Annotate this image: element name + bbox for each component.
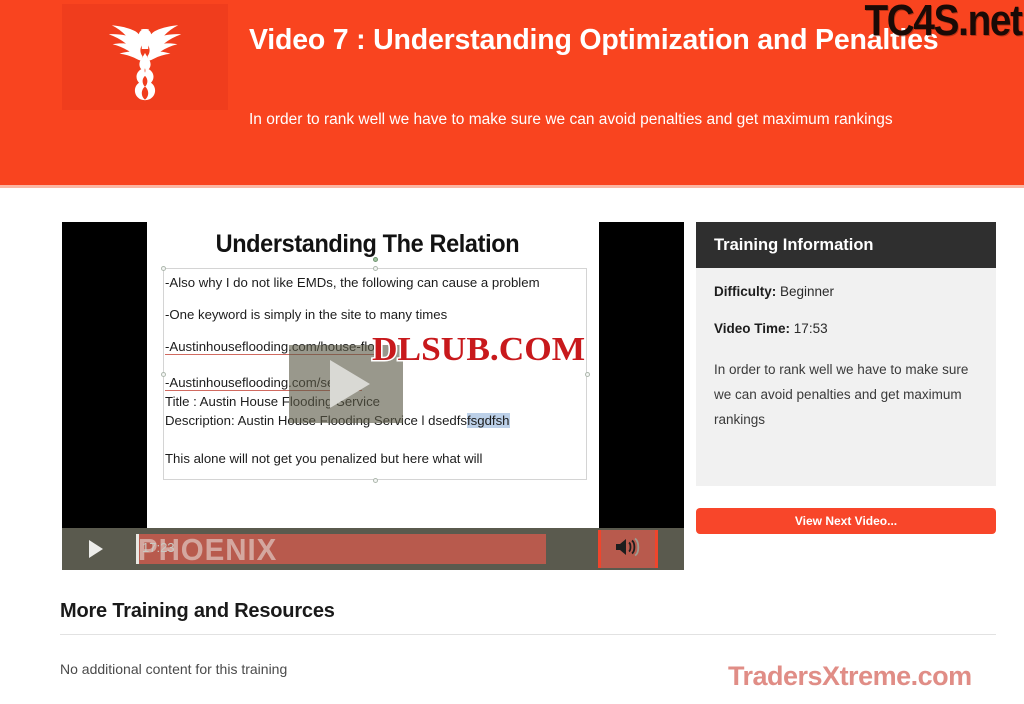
training-description: In order to rank well we have to make su…	[714, 358, 978, 433]
difficulty-row: Difficulty: Beginner	[714, 284, 978, 299]
difficulty-label: Difficulty:	[714, 284, 776, 299]
slide-line-1: -Also why I do not like EMDs, the follow…	[165, 276, 589, 289]
more-resources-body: No additional content for this training	[60, 661, 287, 677]
slide-meta-desc-highlight: fsgdfsh	[467, 413, 510, 428]
phoenix-flame-logo-icon	[85, 9, 205, 105]
panel-title: Training Information	[714, 236, 874, 255]
page-subtitle: In order to rank well we have to make su…	[249, 108, 959, 132]
slide-closing-line: This alone will not get you penalized bu…	[165, 452, 589, 465]
volume-button[interactable]	[598, 530, 658, 568]
video-time-label: Video Time:	[714, 321, 790, 336]
watermark-tc4s: TC4S.net	[865, 0, 1022, 46]
slide-title: Understanding The Relation	[170, 230, 565, 259]
more-resources-divider	[60, 634, 996, 635]
video-control-bar[interactable]: PHOENIX 17:23	[62, 528, 684, 570]
video-time-value: 17:53	[794, 321, 828, 336]
current-time-label: 17:23	[142, 540, 175, 555]
play-button[interactable]	[62, 528, 130, 570]
slide-rotate-handle	[373, 257, 378, 262]
slide-handle-tl	[161, 266, 166, 271]
site-logo[interactable]	[62, 4, 228, 110]
difficulty-value: Beginner	[780, 284, 834, 299]
more-resources-heading: More Training and Resources	[60, 600, 335, 623]
page-root: Video 7 : Understanding Optimization and…	[0, 0, 1024, 704]
slide-handle-tc	[373, 266, 378, 271]
play-triangle-icon	[330, 360, 370, 408]
watermark-tradersxtreme: TradersXtreme.com	[728, 661, 972, 692]
header-divider	[0, 185, 1024, 188]
watermark-dlsub: DLSUB.COM	[372, 331, 585, 369]
slide-line-2: -One keyword is simply in the site to ma…	[165, 308, 589, 321]
play-icon	[89, 540, 103, 558]
video-time-row: Video Time: 17:53	[714, 321, 978, 336]
fullscreen-button[interactable]	[674, 528, 684, 570]
training-information-panel: Training Information Difficulty: Beginne…	[696, 222, 996, 534]
panel-body: Difficulty: Beginner Video Time: 17:53 I…	[696, 268, 996, 486]
panel-header: Training Information	[696, 222, 996, 268]
page-header: Video 7 : Understanding Optimization and…	[0, 0, 1024, 185]
view-next-video-button[interactable]: View Next Video...	[696, 508, 996, 534]
volume-high-icon	[613, 537, 643, 562]
